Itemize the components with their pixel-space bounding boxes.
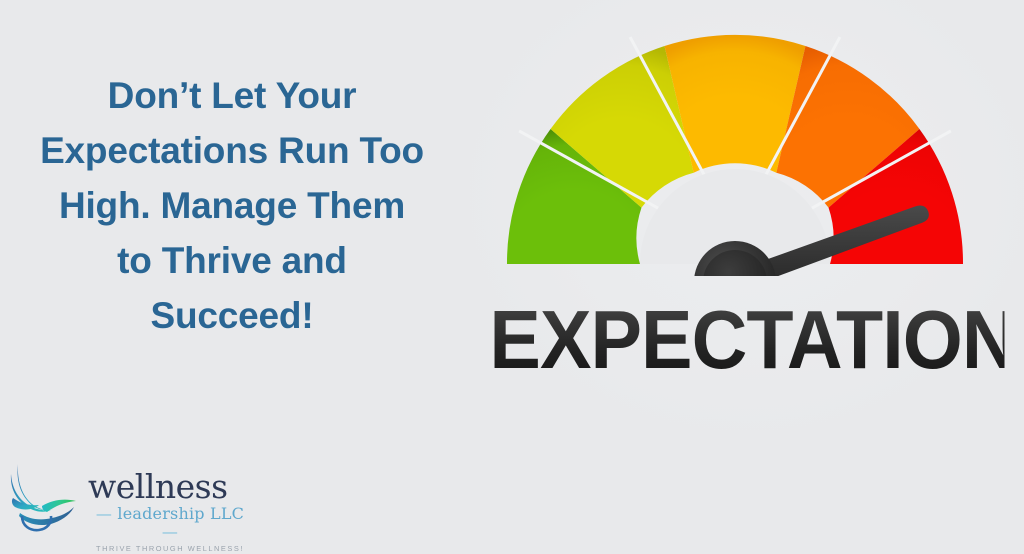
logo-wordmark: wellness — leadership LLC — THRIVE THROU… (88, 470, 252, 532)
gauge-svg (497, 26, 977, 276)
page-title: Don’t Let Your Expectations Run Too High… (8, 68, 456, 343)
logo-dash-left: — (96, 504, 112, 523)
gauge-chart (497, 26, 977, 276)
brand-logo[interactable]: wellness — leadership LLC — THRIVE THROU… (4, 456, 252, 536)
gauge-caption: EXPECTATIONS (489, 296, 1004, 384)
logo-tagline: THRIVE THROUGH WELLNESS! (88, 544, 252, 554)
poster-canvas: Don’t Let Your Expectations Run Too High… (0, 0, 1024, 536)
logo-dash-right: — (162, 522, 178, 541)
wellness-bird-mark-icon (6, 458, 86, 534)
logo-brand-name: wellness (88, 470, 252, 504)
logo-subtitle-text: leadership LLC (117, 504, 244, 523)
